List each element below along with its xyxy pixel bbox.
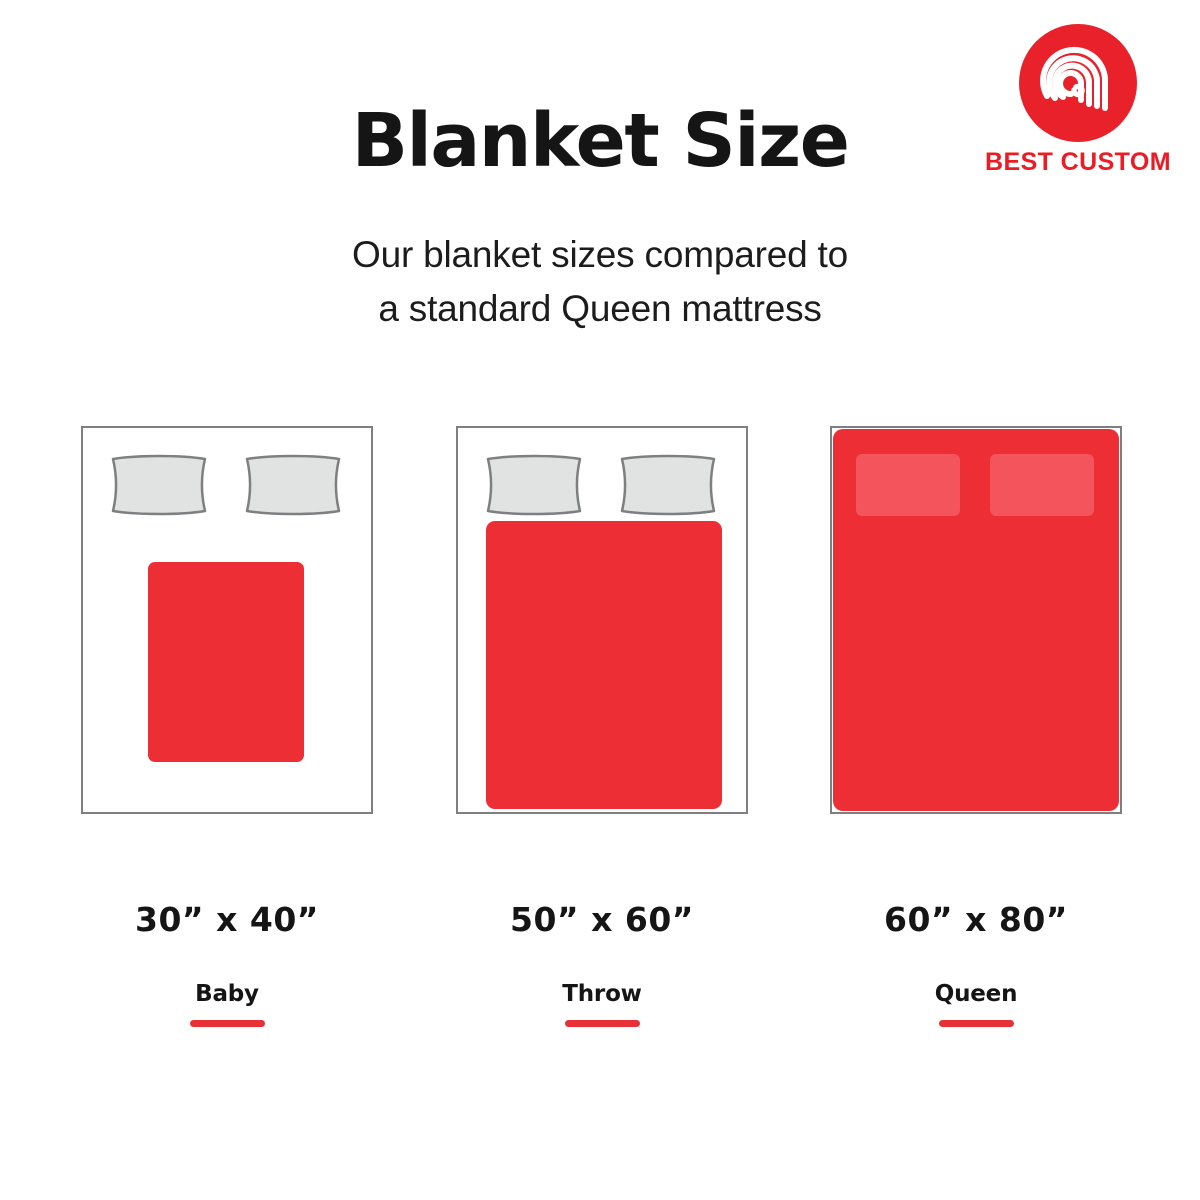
subtitle-line-2: a standard Queen mattress — [0, 282, 1200, 336]
pillow-left — [107, 454, 211, 516]
pillow-right — [616, 454, 720, 516]
caption-baby: 30” x 40” Baby — [81, 900, 373, 1027]
page-title: Blanket Size — [0, 104, 1200, 178]
accent-rule — [939, 1020, 1014, 1027]
pillow-shape — [241, 454, 345, 516]
blanket-dimensions: 50” x 60” — [456, 900, 748, 939]
infographic-page: BEST CUSTOM Blanket Size Our blanket siz… — [0, 0, 1200, 1200]
pillow-right — [990, 454, 1094, 516]
pillow-right — [241, 454, 345, 516]
accent-rule — [565, 1020, 640, 1027]
pillow-left — [856, 454, 960, 516]
pillow-shape — [482, 454, 586, 516]
accent-rule — [190, 1020, 265, 1027]
blanket-queen — [833, 429, 1119, 811]
page-subtitle: Our blanket sizes compared to a standard… — [0, 228, 1200, 335]
mattress-diagram-throw — [456, 426, 748, 814]
blanket-baby — [148, 562, 304, 762]
mattress-diagram-queen — [830, 426, 1122, 814]
blanket-size-name: Baby — [81, 981, 373, 1007]
blanket-throw — [486, 521, 722, 809]
pillow-shape — [107, 454, 211, 516]
pillow-shape — [616, 454, 720, 516]
mattress-diagram-baby — [81, 426, 373, 814]
blanket-dimensions: 30” x 40” — [81, 900, 373, 939]
blanket-dimensions: 60” x 80” — [830, 900, 1122, 939]
blanket-size-name: Throw — [456, 981, 748, 1007]
caption-throw: 50” x 60” Throw — [456, 900, 748, 1027]
blanket-size-name: Queen — [830, 981, 1122, 1007]
subtitle-line-1: Our blanket sizes compared to — [0, 228, 1200, 282]
caption-queen: 60” x 80” Queen — [830, 900, 1122, 1027]
pillow-left — [482, 454, 586, 516]
